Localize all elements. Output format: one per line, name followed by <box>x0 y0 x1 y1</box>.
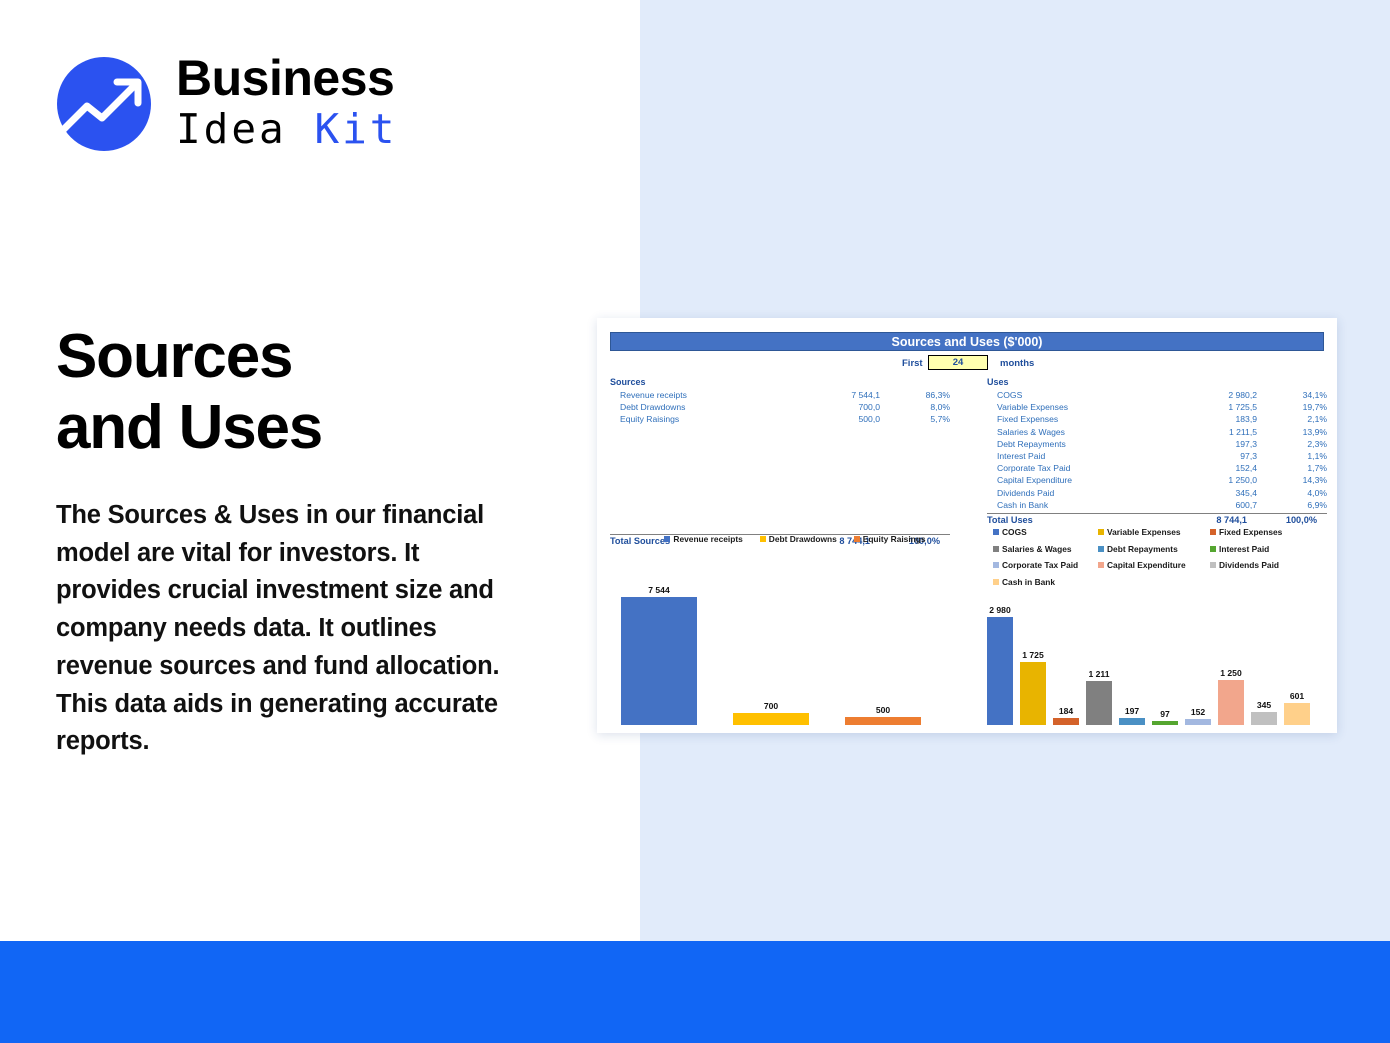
bar[interactable] <box>621 597 697 725</box>
period-selector-row: First 24 months <box>610 355 1324 371</box>
legend-label: COGS <box>1002 527 1027 537</box>
uses-table-header: Uses <box>987 377 1327 389</box>
bar-value-label: 7 544 <box>648 585 670 595</box>
bar[interactable] <box>1020 662 1046 725</box>
legend-label: Capital Expenditure <box>1107 560 1186 570</box>
sources-row: Debt Drawdowns700,08,0% <box>610 401 950 413</box>
uses-row-name: Debt Repayments <box>987 439 1172 449</box>
uses-row-value: 1 250,0 <box>1172 475 1257 485</box>
uses-row-value: 152,4 <box>1172 463 1257 473</box>
bar-value-label: 2 980 <box>989 605 1011 615</box>
bar-value-label: 197 <box>1125 706 1139 716</box>
page-title: Sourcesand Uses <box>56 322 576 463</box>
growth-arrow-icon <box>54 54 154 154</box>
bar-group: 700 <box>733 575 809 725</box>
legend-item[interactable]: Variable Expenses <box>1098 527 1210 537</box>
legend-item[interactable]: Debt Drawdowns <box>760 534 837 544</box>
legend-swatch-icon <box>1210 562 1216 568</box>
sources-and-uses-card: Sources and Uses ($'000) First 24 months… <box>597 318 1337 733</box>
uses-rows: COGS2 980,234,1%Variable Expenses1 725,5… <box>987 389 1327 511</box>
sources-row-pct: 8,0% <box>880 402 950 412</box>
uses-row-name: Fixed Expenses <box>987 414 1172 424</box>
uses-row-pct: 1,1% <box>1257 451 1327 461</box>
months-input[interactable]: 24 <box>928 355 988 370</box>
legend-item[interactable]: Salaries & Wages <box>993 544 1098 554</box>
bar-value-label: 1 211 <box>1088 669 1109 679</box>
bar-group: 184 <box>1053 575 1079 725</box>
uses-total-label: Total Uses <box>987 515 1162 525</box>
legend-swatch-icon <box>1098 546 1104 552</box>
sources-row-name: Debt Drawdowns <box>610 402 795 412</box>
legend-swatch-icon <box>1098 562 1104 568</box>
uses-row-pct: 4,0% <box>1257 488 1327 498</box>
uses-row-name: Interest Paid <box>987 451 1172 461</box>
uses-row: Fixed Expenses183,92,1% <box>987 413 1327 425</box>
sources-plot-area: 7 544700500 <box>621 575 951 725</box>
page-description: The Sources & Uses in our financial mode… <box>56 497 511 761</box>
uses-row-value: 2 980,2 <box>1172 390 1257 400</box>
legend-item[interactable]: Fixed Expenses <box>1210 527 1320 537</box>
uses-row-pct: 13,9% <box>1257 427 1327 437</box>
sources-row-value: 700,0 <box>795 402 880 412</box>
bar[interactable] <box>845 717 921 725</box>
sources-row-value: 7 544,1 <box>795 390 880 400</box>
legend-label: Equity Raisings <box>863 534 926 544</box>
bar-group: 345 <box>1251 575 1277 725</box>
uses-row-value: 183,9 <box>1172 414 1257 424</box>
legend-label: Debt Repayments <box>1107 544 1178 554</box>
bar[interactable] <box>1053 718 1079 725</box>
uses-total-pct: 100,0% <box>1247 515 1317 525</box>
sheet-title: Sources and Uses ($'000) <box>610 332 1324 351</box>
bar-group: 197 <box>1119 575 1145 725</box>
bar-value-label: 184 <box>1059 706 1073 716</box>
uses-row-name: COGS <box>987 390 1172 400</box>
sources-row: Equity Raisings500,05,7% <box>610 413 950 425</box>
bar-group: 152 <box>1185 575 1211 725</box>
sources-row-pct: 5,7% <box>880 414 950 424</box>
legend-item[interactable]: Revenue receipts <box>664 534 742 544</box>
page-title-line: and Uses <box>56 393 576 464</box>
bar[interactable] <box>1284 703 1310 725</box>
legend-swatch-icon <box>1210 546 1216 552</box>
sources-table-header: Sources <box>610 377 950 389</box>
bottom-accent-bar <box>0 941 1390 1043</box>
bar[interactable] <box>1218 680 1244 725</box>
uses-row: Debt Repayments197,32,3% <box>987 438 1327 450</box>
uses-bar-chart: 2 9801 7251841 211197971521 250345601 <box>987 573 1317 733</box>
legend-swatch-icon <box>993 546 999 552</box>
uses-row-pct: 2,1% <box>1257 414 1327 424</box>
bar[interactable] <box>1119 718 1145 725</box>
legend-swatch-icon <box>664 536 670 542</box>
bar[interactable] <box>987 617 1013 725</box>
legend-swatch-icon <box>993 529 999 535</box>
uses-row: Dividends Paid345,44,0% <box>987 487 1327 499</box>
sources-row-pct: 86,3% <box>880 390 950 400</box>
bar-value-label: 1 250 <box>1220 668 1242 678</box>
brand-line-business: Business <box>176 50 398 106</box>
uses-row: Variable Expenses1 725,519,7% <box>987 401 1327 413</box>
uses-row-value: 97,3 <box>1172 451 1257 461</box>
sources-row-name: Revenue receipts <box>610 390 795 400</box>
brand-idea: Idea <box>176 105 287 153</box>
sources-table: Sources Revenue receipts7 544,186,3%Debt… <box>610 377 950 548</box>
uses-total-row: Total Uses 8 744,1 100,0% <box>987 513 1327 527</box>
bar-group: 97 <box>1152 575 1178 725</box>
page-title-line: Sources <box>56 322 576 393</box>
legend-item[interactable]: Corporate Tax Paid <box>993 560 1098 570</box>
uses-row: Interest Paid97,31,1% <box>987 450 1327 462</box>
uses-row-name: Capital Expenditure <box>987 475 1172 485</box>
uses-row-name: Cash in Bank <box>987 500 1172 510</box>
legend-label: Revenue receipts <box>673 534 742 544</box>
uses-row-pct: 1,7% <box>1257 463 1327 473</box>
brand-wordmark: Business Idea Kit <box>176 50 398 152</box>
uses-row-pct: 2,3% <box>1257 439 1327 449</box>
bar-value-label: 601 <box>1290 691 1304 701</box>
bar[interactable] <box>1251 712 1277 725</box>
bar-group: 7 544 <box>621 575 697 725</box>
uses-row-value: 600,7 <box>1172 500 1257 510</box>
sources-row-name: Equity Raisings <box>610 414 795 424</box>
legend-swatch-icon <box>993 562 999 568</box>
sources-row-value: 500,0 <box>795 414 880 424</box>
bar-group: 1 250 <box>1218 575 1244 725</box>
legend-label: Variable Expenses <box>1107 527 1181 537</box>
bar[interactable] <box>1152 721 1178 725</box>
bar-value-label: 345 <box>1257 700 1271 710</box>
legend-swatch-icon <box>760 536 766 542</box>
bar-group: 500 <box>845 575 921 725</box>
uses-row-name: Corporate Tax Paid <box>987 463 1172 473</box>
legend-item[interactable]: Dividends Paid <box>1210 560 1320 570</box>
sources-row: Revenue receipts7 544,186,3% <box>610 389 950 401</box>
uses-row: Capital Expenditure1 250,014,3% <box>987 474 1327 486</box>
uses-row-value: 197,3 <box>1172 439 1257 449</box>
bar[interactable] <box>1086 681 1112 725</box>
uses-row-name: Variable Expenses <box>987 402 1172 412</box>
brand-logo: Business Idea Kit <box>54 50 454 160</box>
uses-row-value: 345,4 <box>1172 488 1257 498</box>
legend-swatch-icon <box>1098 529 1104 535</box>
legend-item[interactable]: Debt Repayments <box>1098 544 1210 554</box>
period-prefix-label: First <box>902 358 923 369</box>
uses-row: Cash in Bank600,76,9% <box>987 499 1327 511</box>
uses-row-pct: 19,7% <box>1257 402 1327 412</box>
legend-swatch-icon <box>1210 529 1216 535</box>
uses-row-value: 1 211,5 <box>1172 427 1257 437</box>
legend-label: Interest Paid <box>1219 544 1269 554</box>
uses-table: Uses COGS2 980,234,1%Variable Expenses1 … <box>987 377 1327 527</box>
legend-item[interactable]: Interest Paid <box>1210 544 1320 554</box>
uses-total-value: 8 744,1 <box>1162 515 1247 525</box>
uses-row-pct: 14,3% <box>1257 475 1327 485</box>
legend-item[interactable]: COGS <box>993 527 1098 537</box>
uses-row-name: Salaries & Wages <box>987 427 1172 437</box>
brand-kit: Kit <box>314 105 397 153</box>
period-suffix-label: months <box>1000 358 1034 369</box>
uses-row: COGS2 980,234,1% <box>987 389 1327 401</box>
sources-bar-chart: 7 544700500 <box>621 573 951 733</box>
legend-label: Corporate Tax Paid <box>1002 560 1078 570</box>
legend-label: Dividends Paid <box>1219 560 1279 570</box>
uses-row-pct: 6,9% <box>1257 500 1327 510</box>
bar-group: 2 980 <box>987 575 1013 725</box>
bar[interactable] <box>1185 719 1211 725</box>
sources-chart-legend: Revenue receiptsDebt DrawdownsEquity Rai… <box>635 534 955 544</box>
legend-label: Salaries & Wages <box>1002 544 1072 554</box>
sources-rows: Revenue receipts7 544,186,3%Debt Drawdow… <box>610 389 950 426</box>
legend-item[interactable]: Equity Raisings <box>854 534 926 544</box>
uses-plot-area: 2 9801 7251841 211197971521 250345601 <box>987 575 1317 725</box>
legend-label: Fixed Expenses <box>1219 527 1282 537</box>
bar-value-label: 97 <box>1160 709 1170 719</box>
bar-value-label: 152 <box>1191 707 1205 717</box>
brand-line-idea-kit: Idea Kit <box>176 106 398 152</box>
uses-row: Corporate Tax Paid152,41,7% <box>987 462 1327 474</box>
uses-row: Salaries & Wages1 211,513,9% <box>987 426 1327 438</box>
uses-row-value: 1 725,5 <box>1172 402 1257 412</box>
uses-row-name: Dividends Paid <box>987 488 1172 498</box>
bar-group: 1 725 <box>1020 575 1046 725</box>
legend-label: Debt Drawdowns <box>769 534 837 544</box>
bar[interactable] <box>733 713 809 725</box>
legend-swatch-icon <box>854 536 860 542</box>
bar-value-label: 700 <box>764 701 778 711</box>
bar-value-label: 1 725 <box>1022 650 1044 660</box>
uses-row-pct: 34,1% <box>1257 390 1327 400</box>
legend-item[interactable]: Capital Expenditure <box>1098 560 1210 570</box>
bar-group: 1 211 <box>1086 575 1112 725</box>
bar-value-label: 500 <box>876 705 890 715</box>
bar-group: 601 <box>1284 575 1310 725</box>
